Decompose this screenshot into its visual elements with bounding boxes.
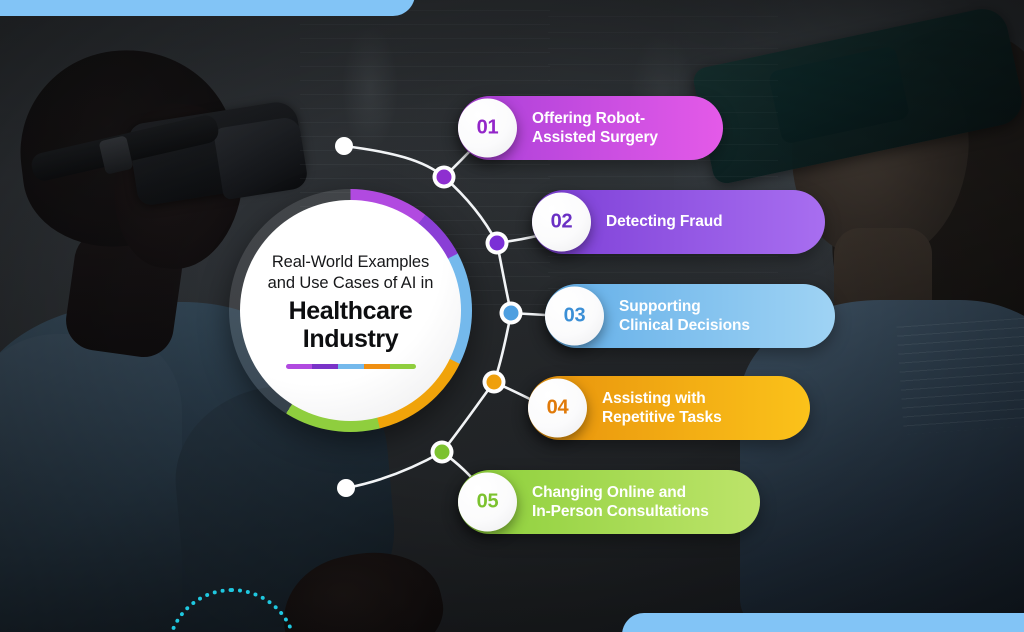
node-dot-03 — [504, 306, 519, 321]
connector-nodes — [0, 0, 1024, 632]
node-dot-02 — [490, 236, 505, 251]
hub-inner-circle: Real-World Examples and Use Cases of AI … — [240, 200, 461, 421]
list-item-04-line2: Repetitive Tasks — [602, 408, 722, 428]
list-item-01-line2: Assisted Surgery — [532, 128, 658, 148]
list-item-01[interactable]: Offering Robot- Assisted Surgery 01 — [458, 96, 723, 160]
list-item-05-line1: Changing Online and — [532, 483, 709, 503]
list-item-03-line1: Supporting — [619, 297, 750, 317]
list-item-02-line1: Detecting Fraud — [606, 212, 722, 232]
list-item-05-line2: In-Person Consultations — [532, 502, 709, 522]
node-dot-05 — [435, 445, 450, 460]
list-item-05[interactable]: Changing Online and In-Person Consultati… — [458, 470, 760, 534]
list-item-04-number-badge[interactable]: 04 — [528, 379, 587, 438]
list-item-04[interactable]: Assisting with Repetitive Tasks 04 — [528, 376, 810, 440]
node-dot-01 — [437, 170, 452, 185]
list-item-05-number-badge[interactable]: 05 — [458, 473, 517, 532]
hub-intro-text: Real-World Examples and Use Cases of AI … — [262, 252, 439, 294]
hub-underline-bar — [286, 364, 416, 369]
list-item-03-line2: Clinical Decisions — [619, 316, 750, 336]
list-item-04-line1: Assisting with — [602, 389, 722, 409]
center-hub: Real-World Examples and Use Cases of AI … — [229, 189, 472, 432]
list-item-03-number-badge[interactable]: 03 — [545, 287, 604, 346]
infographic-canvas: Real-World Examples and Use Cases of AI … — [0, 0, 1024, 632]
list-item-01-line1: Offering Robot- — [532, 109, 658, 129]
list-item-02[interactable]: Detecting Fraud 02 — [532, 190, 825, 254]
hub-headline-text: Healthcare Industry — [262, 297, 439, 353]
list-item-03[interactable]: Supporting Clinical Decisions 03 — [545, 284, 835, 348]
list-item-01-number-badge[interactable]: 01 — [458, 99, 517, 158]
list-item-02-number-badge[interactable]: 02 — [532, 193, 591, 252]
node-dot-04 — [487, 375, 502, 390]
